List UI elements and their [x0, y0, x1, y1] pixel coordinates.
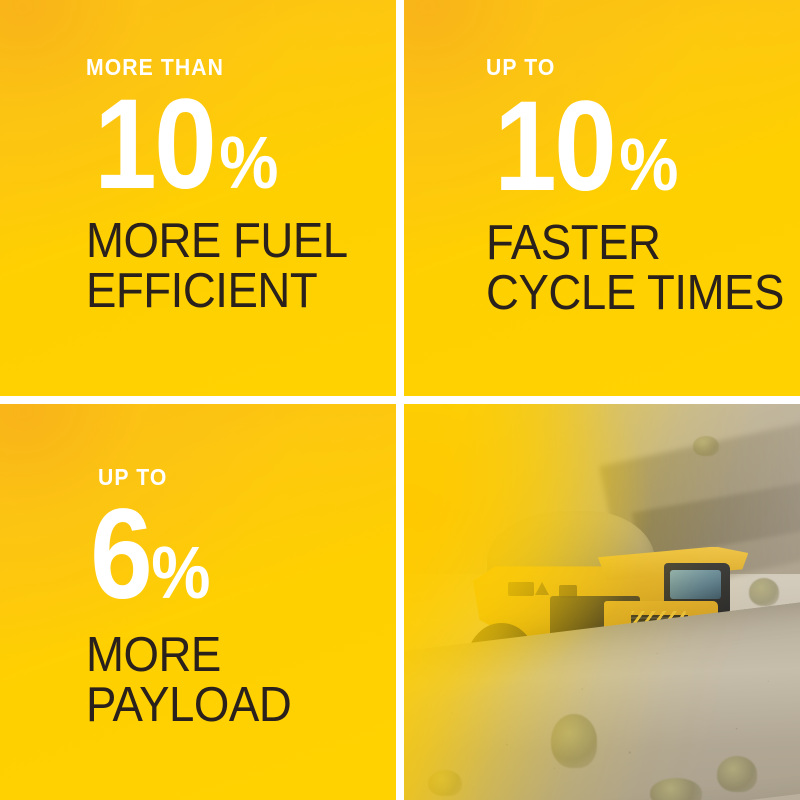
stat-figure-payload: 6 %	[86, 499, 212, 612]
stat-headline-line-1: MORE	[86, 630, 291, 680]
stat-headline-line-2: PAYLOAD	[86, 680, 291, 730]
mining-haul-truck-photo: Caterpillar off-highway mining haul truc…	[404, 404, 800, 800]
sagebrush-shrub	[551, 714, 597, 768]
stat-headline-line-2: CYCLE TIMES	[486, 268, 784, 318]
stat-headline-line-1: FASTER	[486, 218, 784, 268]
stat-tile-payload: UP TO 6 % MORE PAYLOAD	[0, 404, 396, 800]
stat-value-cycle-times: 10	[494, 91, 614, 204]
stat-tile-content: UP TO 10 % FASTER CYCLE TIMES	[404, 0, 800, 396]
stat-value-fuel-efficiency: 10	[94, 89, 214, 202]
stat-tile-content: UP TO 6 % MORE PAYLOAD	[0, 404, 396, 800]
sagebrush-shrub	[717, 756, 757, 792]
stat-tile-content: MORE THAN 10 % MORE FUEL EFFICIENT	[0, 0, 396, 396]
sagebrush-shrub	[749, 578, 779, 606]
stat-unit-payload: %	[151, 540, 208, 605]
stats-infographic: MORE THAN 10 % MORE FUEL EFFICIENT UP TO…	[0, 0, 800, 800]
sagebrush-shrub	[650, 778, 702, 800]
stat-headline-cycle-times: FASTER CYCLE TIMES	[486, 218, 784, 319]
stat-unit-cycle-times: %	[620, 132, 677, 197]
stat-headline-fuel-efficiency: MORE FUEL EFFICIENT	[86, 216, 348, 317]
stat-headline-line-1: MORE FUEL	[86, 216, 348, 266]
stat-headline-line-2: EFFICIENT	[86, 266, 348, 316]
stat-tile-cycle-times: UP TO 10 % FASTER CYCLE TIMES	[404, 0, 800, 396]
ground-gravel-texture	[404, 404, 800, 800]
stat-tile-fuel-efficiency: MORE THAN 10 % MORE FUEL EFFICIENT	[0, 0, 396, 396]
stat-value-payload: 6	[90, 499, 150, 612]
photo-scene	[404, 404, 800, 800]
sagebrush-shrub	[428, 770, 462, 796]
stat-figure-cycle-times: 10 %	[486, 91, 680, 204]
stat-figure-fuel-efficiency: 10 %	[86, 89, 280, 202]
stat-unit-fuel-efficiency: %	[220, 130, 277, 195]
sagebrush-shrub	[693, 436, 719, 456]
stat-headline-payload: MORE PAYLOAD	[86, 630, 291, 731]
